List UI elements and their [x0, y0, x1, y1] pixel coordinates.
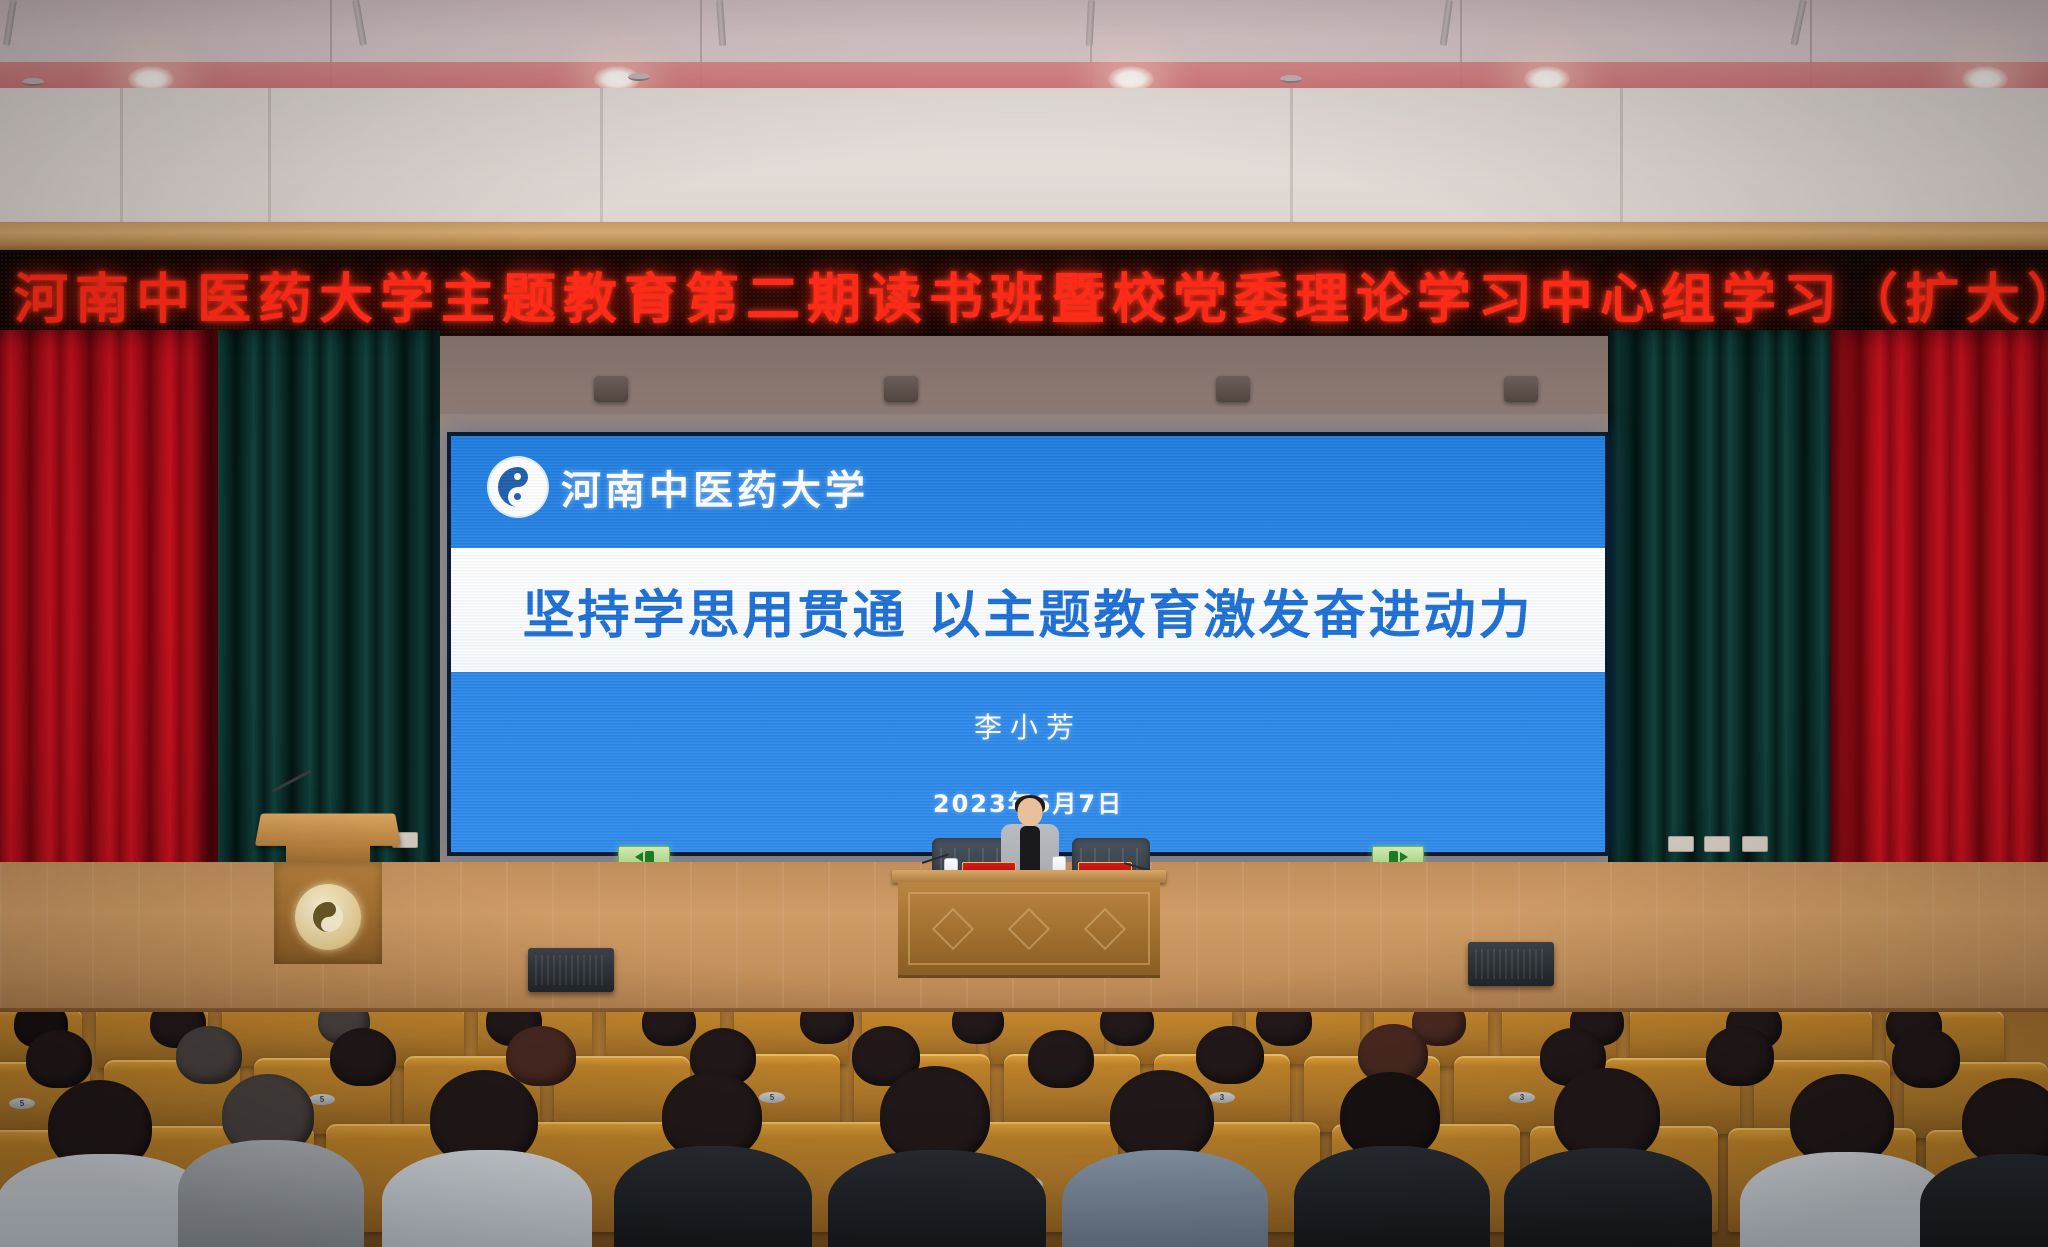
- wall-wood-trim: [0, 222, 2048, 252]
- wall-seam: [268, 88, 271, 228]
- head-table-front: [898, 882, 1160, 978]
- podium-body: [274, 862, 382, 964]
- audience-head: [1962, 1078, 2048, 1166]
- audience-shoulders: [1062, 1150, 1268, 1247]
- audience-shoulders: [614, 1146, 812, 1247]
- audience-head: [506, 1026, 576, 1086]
- audience-head: [1892, 1028, 1960, 1088]
- wall-outlet[interactable]: [1742, 836, 1768, 852]
- head-table: [898, 870, 1160, 982]
- wall-seam: [120, 88, 123, 228]
- taiji-yinyang-logo-icon: [489, 458, 547, 516]
- slide-background: 河南中医药大学 坚持学思用贯通 以主题教育激发奋进动力 李小芳 2023年6月7…: [451, 436, 1605, 852]
- wall-speaker: [884, 376, 918, 402]
- slide-logo-row: 河南中医药大学: [489, 458, 869, 516]
- audience-head: [176, 1026, 242, 1084]
- audience-shoulders: [382, 1150, 592, 1247]
- led-banner-text: 河南中医药大学主题教育第二期读书班暨校党委理论学习中心组学习（扩大）会: [14, 255, 2048, 334]
- wall-outlet[interactable]: [1668, 836, 1694, 852]
- audience-head: [26, 1030, 92, 1088]
- slide-presenter-name: 李小芳: [451, 706, 1605, 746]
- presentation-led-screen[interactable]: 河南中医药大学 坚持学思用贯通 以主题教育激发奋进动力 李小芳 2023年6月7…: [447, 432, 1609, 856]
- smoke-detector-icon: [628, 73, 650, 81]
- led-scrolling-banner: 河南中医药大学主题教育第二期读书班暨校党委理论学习中心组学习（扩大）会: [0, 250, 2048, 338]
- seat-number-badge: 3: [1509, 1092, 1535, 1103]
- wall-seam: [1620, 88, 1623, 228]
- audience-shoulders: [1504, 1148, 1712, 1247]
- audience-shoulders: [178, 1140, 364, 1247]
- podium-top: [255, 814, 401, 846]
- smoke-detector-icon: [1280, 75, 1302, 83]
- audience-head: [1196, 1026, 1264, 1084]
- stage-floor-monitor: [528, 948, 614, 992]
- wall-speaker: [1216, 376, 1250, 402]
- audience-head: [1706, 1026, 1774, 1086]
- audience-shoulders: [828, 1150, 1046, 1247]
- speaker-podium: [266, 812, 390, 964]
- wall-seam: [600, 88, 603, 228]
- wall-speaker: [1504, 376, 1538, 402]
- audience-shoulders: [1740, 1152, 1950, 1247]
- audience-head: [1028, 1030, 1094, 1088]
- upper-wall: [0, 88, 2048, 228]
- audience-shoulders: [1294, 1146, 1490, 1247]
- seat-number-badge: 3: [1209, 1092, 1235, 1103]
- audience-seating-area: 5 5 5 3 3: [0, 1012, 2048, 1247]
- slide-title-band: 坚持学思用贯通 以主题教育激发奋进动力: [451, 548, 1605, 672]
- wall-seam: [1290, 88, 1293, 228]
- audience-head: [330, 1028, 396, 1086]
- slide-title: 坚持学思用贯通 以主题教育激发奋进动力: [522, 573, 1533, 648]
- wall-outlet[interactable]: [1704, 836, 1730, 852]
- speaker-head: [1018, 798, 1043, 826]
- stage-floor-monitor: [1468, 942, 1554, 986]
- university-taiji-emblem-icon: [295, 884, 361, 950]
- university-name: 河南中医药大学: [561, 458, 869, 516]
- smoke-detector-icon: [22, 78, 44, 86]
- audience-head: [1110, 1070, 1214, 1162]
- wall-speaker: [594, 376, 628, 402]
- seat-number-badge: 5: [9, 1098, 35, 1109]
- seat-number-badge: 5: [759, 1092, 785, 1103]
- seat-number-badge: 5: [309, 1094, 335, 1105]
- auditorium-photo: 河南中医药大学主题教育第二期读书班暨校党委理论学习中心组学习（扩大）会 河南中医…: [0, 0, 2048, 1247]
